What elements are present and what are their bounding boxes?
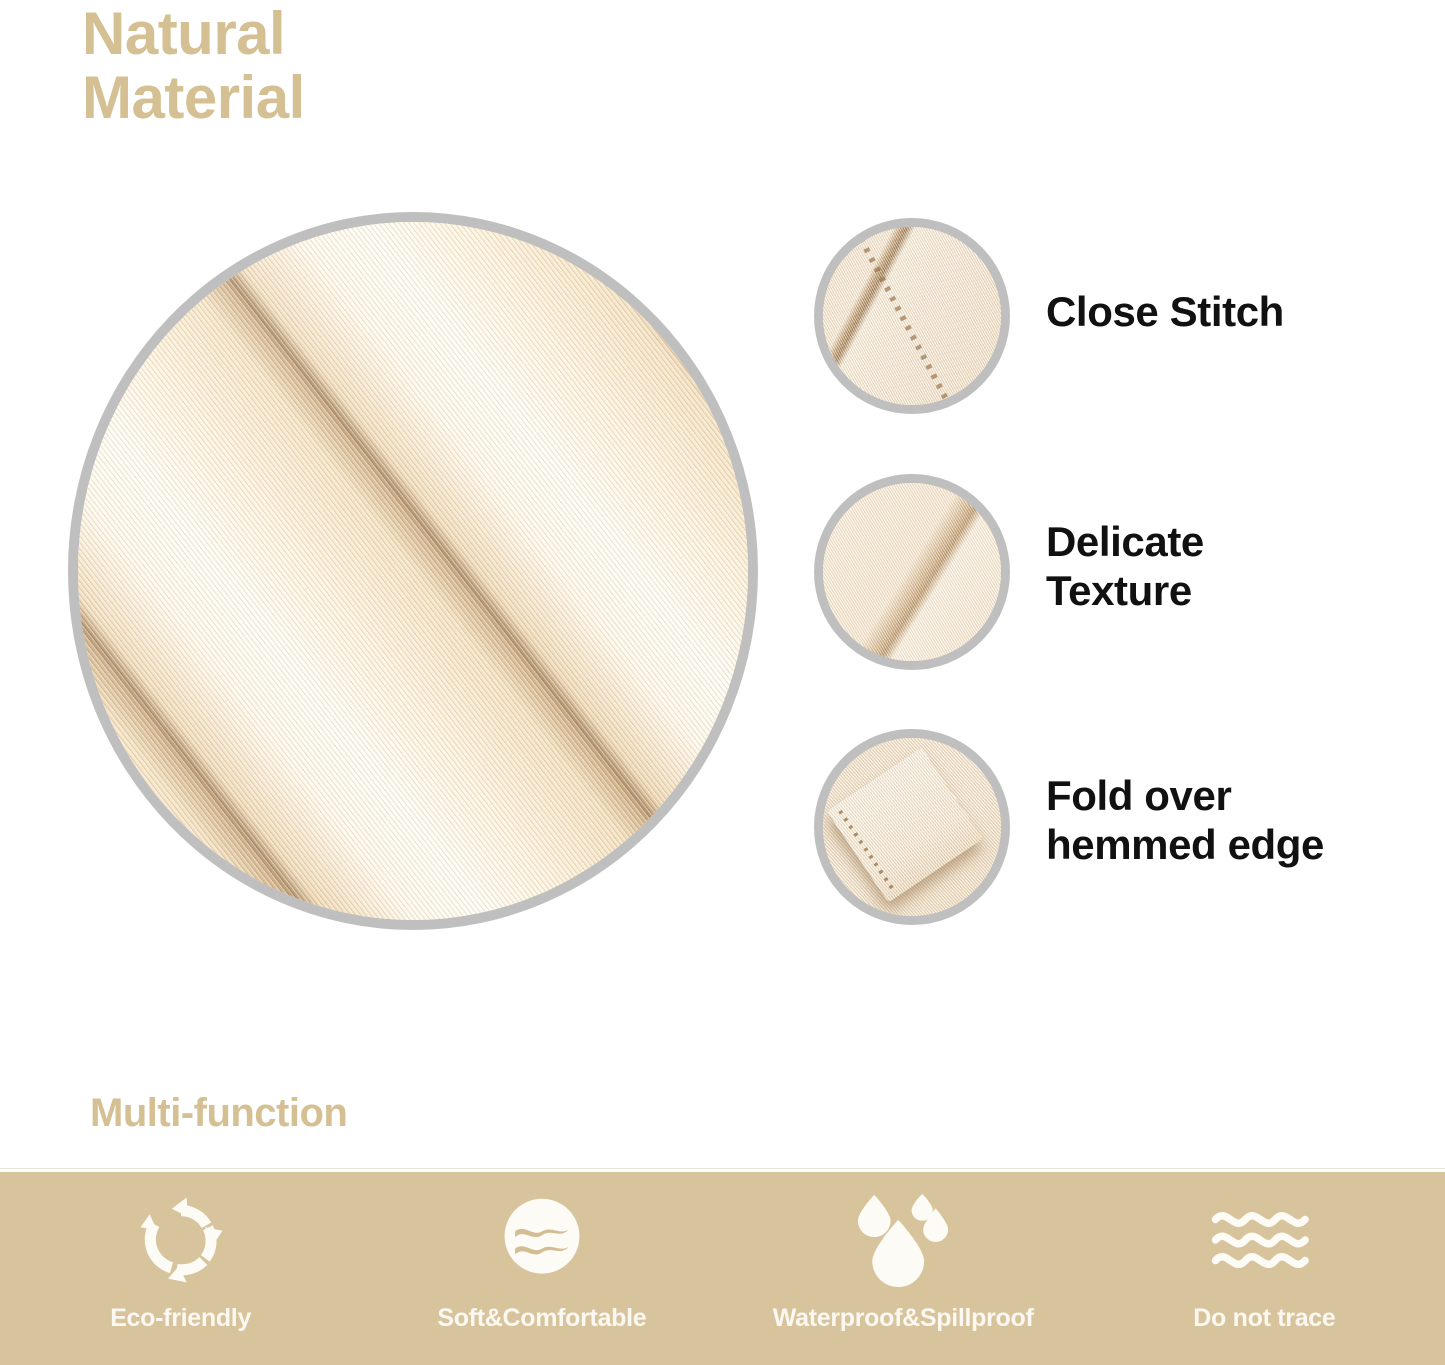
fabric-texture-stitch [823, 227, 1001, 405]
section-title-multi-function: Multi-function [90, 1092, 347, 1134]
detail-photo-delicate-texture [814, 474, 1010, 670]
section-divider [0, 1168, 1445, 1169]
water-drops-icon [853, 1188, 953, 1292]
detail-label-hemmed-edge: Fold over hemmed edge [1046, 772, 1324, 869]
fabric-texture-large [78, 222, 748, 920]
feature-label-do-not-trace: Do not trace [1193, 1304, 1335, 1333]
feature-item-soft-comfortable: Soft&Comfortable [392, 1188, 692, 1333]
soft-waves-icon [494, 1188, 590, 1292]
feature-band: Eco-friendly Soft&Comfortable [0, 1172, 1445, 1365]
detail-photo-hemmed-edge [814, 729, 1010, 925]
detail-label-delicate-texture: Delicate Texture [1046, 518, 1204, 615]
feature-label-soft-comfortable: Soft&Comfortable [437, 1304, 646, 1333]
feature-item-do-not-trace: Do not trace [1114, 1188, 1414, 1333]
hem-stitch-line-icon [838, 809, 896, 892]
wavy-lines-icon [1208, 1188, 1320, 1292]
stitch-line-icon [848, 218, 960, 414]
detail-label-close-stitch: Close Stitch [1046, 288, 1284, 337]
hem-flap [827, 748, 983, 903]
feature-label-eco-friendly: Eco-friendly [110, 1304, 251, 1333]
feature-item-eco-friendly: Eco-friendly [31, 1188, 331, 1333]
feature-item-waterproof-spillproof: Waterproof&Spillproof [753, 1188, 1053, 1333]
recycle-icon [135, 1188, 227, 1292]
infographic-page: Natural Material Close Stitch Delicate T… [0, 0, 1445, 1365]
fabric-texture-hem [823, 738, 1001, 916]
feature-label-waterproof-spillproof: Waterproof&Spillproof [773, 1304, 1034, 1333]
fabric-texture-delicate [823, 483, 1001, 661]
main-fabric-photo [68, 212, 758, 930]
section-title-natural-material: Natural Material [82, 2, 305, 129]
detail-photo-close-stitch [814, 218, 1010, 414]
